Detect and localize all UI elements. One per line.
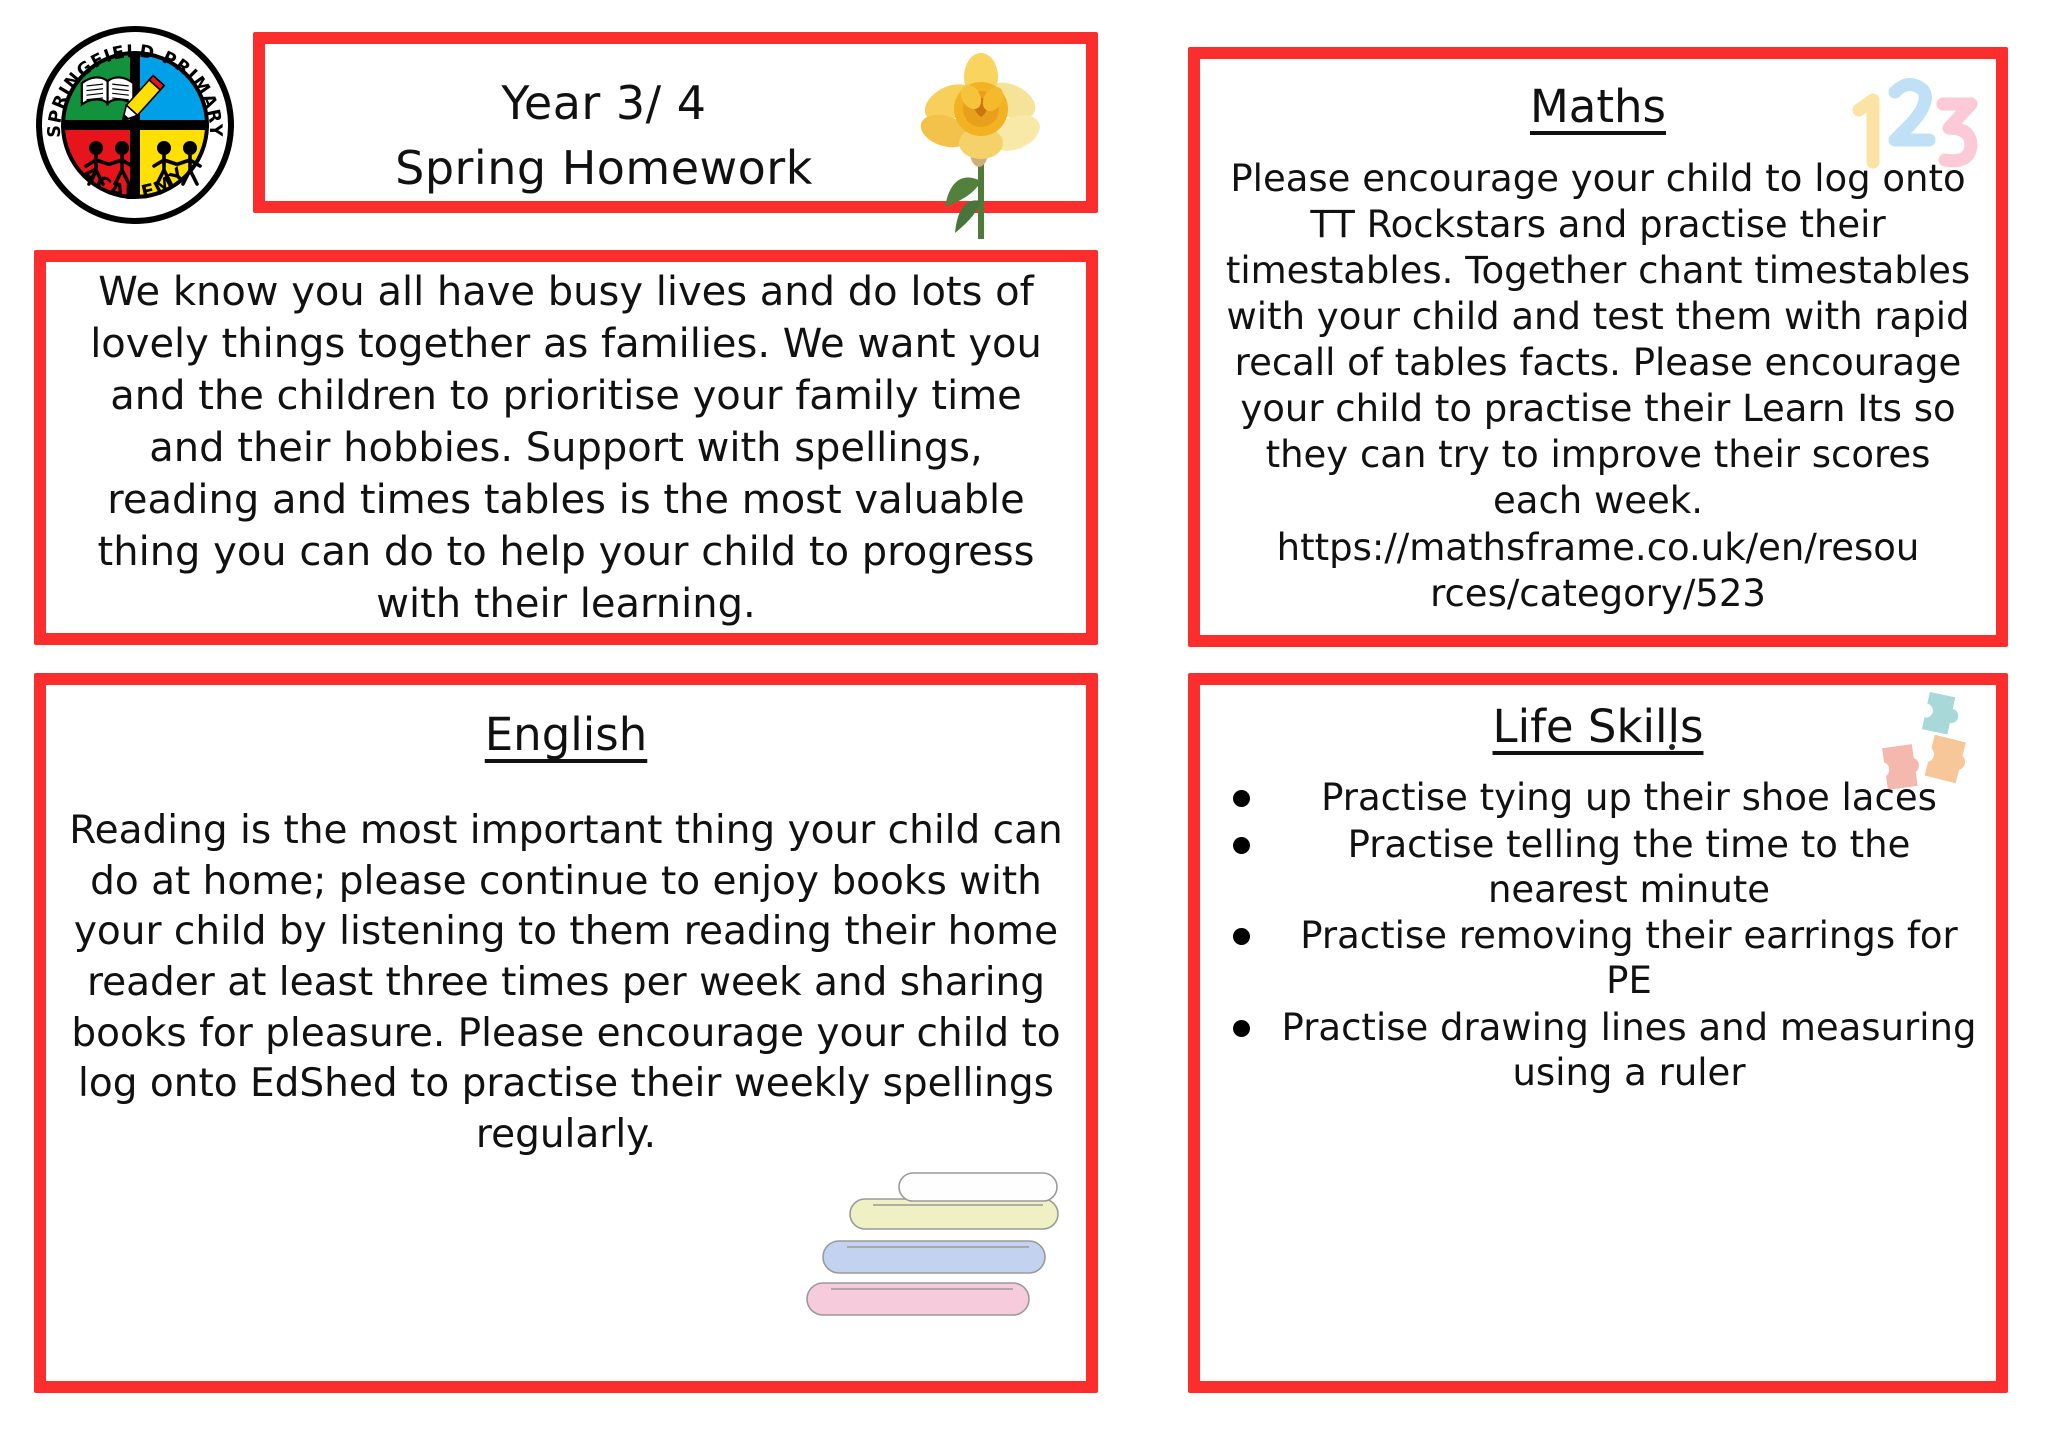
page-title: Year 3/ 4 Spring Homework <box>304 71 904 202</box>
title-banner: Year 3/ 4 Spring Homework <box>253 32 1098 213</box>
homework-poster: SPRINGFIELD PRIMARY ACADEMY Year 3/ 4 Sp… <box>0 0 2048 1448</box>
english-heading: English <box>45 710 1087 760</box>
life-skills-list: Practise tying up their shoe laces Pract… <box>1215 776 1985 1097</box>
maths-url-line-2: rces/category/523 <box>1217 571 1979 617</box>
stacked-books-icon <box>795 1165 1065 1330</box>
maths-body: Please encourage your child to log onto … <box>1217 156 1979 617</box>
list-item-label: Practise telling the time to the nearest… <box>1348 823 1911 911</box>
bullet-icon <box>1233 928 1250 945</box>
school-logo: SPRINGFIELD PRIMARY ACADEMY <box>32 22 238 228</box>
list-item: Practise tying up their shoe laces <box>1215 776 1985 821</box>
bullet-icon <box>1233 837 1250 854</box>
title-line-2: Spring Homework <box>304 136 904 201</box>
bullet-icon <box>1233 790 1250 807</box>
stray-dot <box>1669 744 1675 750</box>
open-book-icon <box>82 77 134 104</box>
english-panel: English Reading is the most important th… <box>34 673 1098 1393</box>
maths-panel: Maths Please encourage your child to log… <box>1188 47 2008 647</box>
maths-body-text: Please encourage your child to log onto … <box>1226 157 1970 522</box>
intro-paragraph: We know you all have busy lives and do l… <box>71 275 1061 620</box>
list-item-label: Practise drawing lines and measuring usi… <box>1282 1006 1977 1094</box>
school-logo-svg: SPRINGFIELD PRIMARY ACADEMY <box>32 22 238 228</box>
list-item: Practise drawing lines and measuring usi… <box>1215 1006 1985 1096</box>
english-heading-row: English <box>45 710 1087 760</box>
title-line-1: Year 3/ 4 <box>304 71 904 136</box>
daffodil-flower-image <box>905 51 1055 241</box>
intro-message-box: We know you all have busy lives and do l… <box>34 250 1098 645</box>
maths-url-line-1: https://mathsframe.co.uk/en/resou <box>1217 525 1979 571</box>
list-item: Practise removing their earrings for PE <box>1215 914 1985 1004</box>
bullet-icon <box>1233 1020 1250 1037</box>
list-item-label: Practise tying up their shoe laces <box>1321 776 1937 819</box>
list-item-label: Practise removing their earrings for PE <box>1300 914 1958 1002</box>
life-skills-panel: Life Skills Practise tying up their shoe… <box>1188 673 2008 1393</box>
english-body: Reading is the most important thing your… <box>61 806 1071 1161</box>
list-item: Practise telling the time to the nearest… <box>1215 823 1985 913</box>
